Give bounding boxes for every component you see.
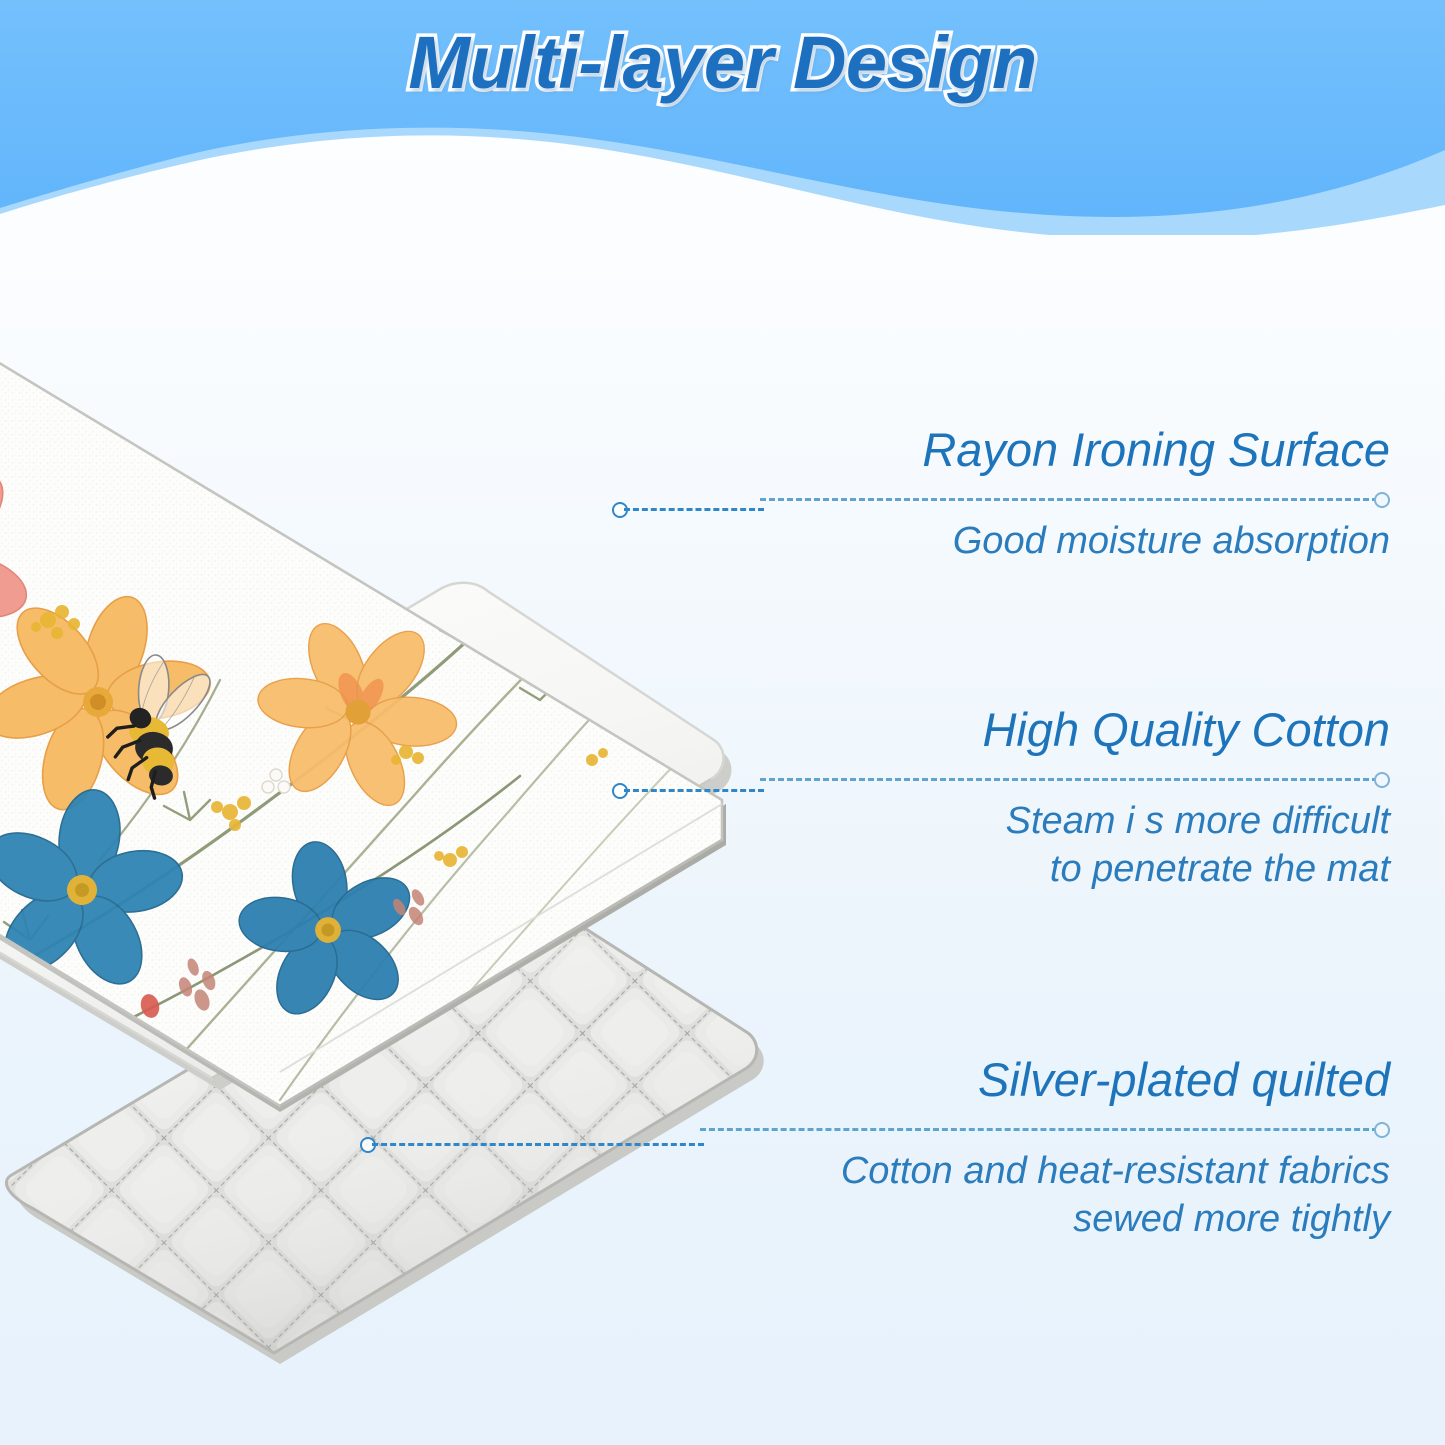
- callout-subline: sewed more tightly: [700, 1195, 1390, 1244]
- leader-dash-cotton: [624, 789, 764, 792]
- callout-title-rayon: Rayon Ironing Surface: [760, 424, 1390, 477]
- callout-rule-dot-cotton: [1374, 772, 1390, 788]
- callout-subtext-quilted: Cotton and heat-resistant fabrics sewed …: [700, 1147, 1390, 1244]
- leader-dash-rayon: [624, 508, 764, 511]
- callout-silver-plated-quilted: Silver-plated quilted Cotton and heat-re…: [700, 1054, 1390, 1244]
- product-layer-stack: [0, 300, 770, 1445]
- leader-dash-quilted: [372, 1143, 704, 1146]
- leader-line-rayon: [612, 502, 764, 516]
- callout-high-quality-cotton: High Quality Cotton Steam i s more diffi…: [760, 704, 1390, 894]
- callout-title-quilted: Silver-plated quilted: [700, 1054, 1390, 1107]
- callout-rule-cotton: [760, 771, 1390, 787]
- callout-rule-dash-quilted: [700, 1128, 1378, 1131]
- callout-rule-rayon: [760, 491, 1390, 507]
- callout-subline: to penetrate the mat: [760, 845, 1390, 894]
- callout-subtext-rayon: Good moisture absorption: [760, 517, 1390, 566]
- callout-subline: Good moisture absorption: [760, 517, 1390, 566]
- callout-subline: Steam i s more difficult: [760, 797, 1390, 846]
- page-title: Multi-layer Design: [0, 20, 1445, 105]
- callout-rayon-ironing-surface: Rayon Ironing Surface Good moisture abso…: [760, 424, 1390, 565]
- callout-rule-dot-quilted: [1374, 1122, 1390, 1138]
- callout-subtext-cotton: Steam i s more difficult to penetrate th…: [760, 797, 1390, 894]
- infographic-canvas: Multi-layer Design: [0, 0, 1445, 1445]
- callout-rule-quilted: [700, 1121, 1390, 1137]
- callout-rule-dash-cotton: [760, 778, 1378, 781]
- leader-line-quilted: [360, 1137, 704, 1151]
- callout-rule-dash-rayon: [760, 498, 1378, 501]
- callout-rule-dot-rayon: [1374, 492, 1390, 508]
- leader-line-cotton: [612, 783, 764, 797]
- callout-subline: Cotton and heat-resistant fabrics: [700, 1147, 1390, 1196]
- callout-title-cotton: High Quality Cotton: [760, 704, 1390, 757]
